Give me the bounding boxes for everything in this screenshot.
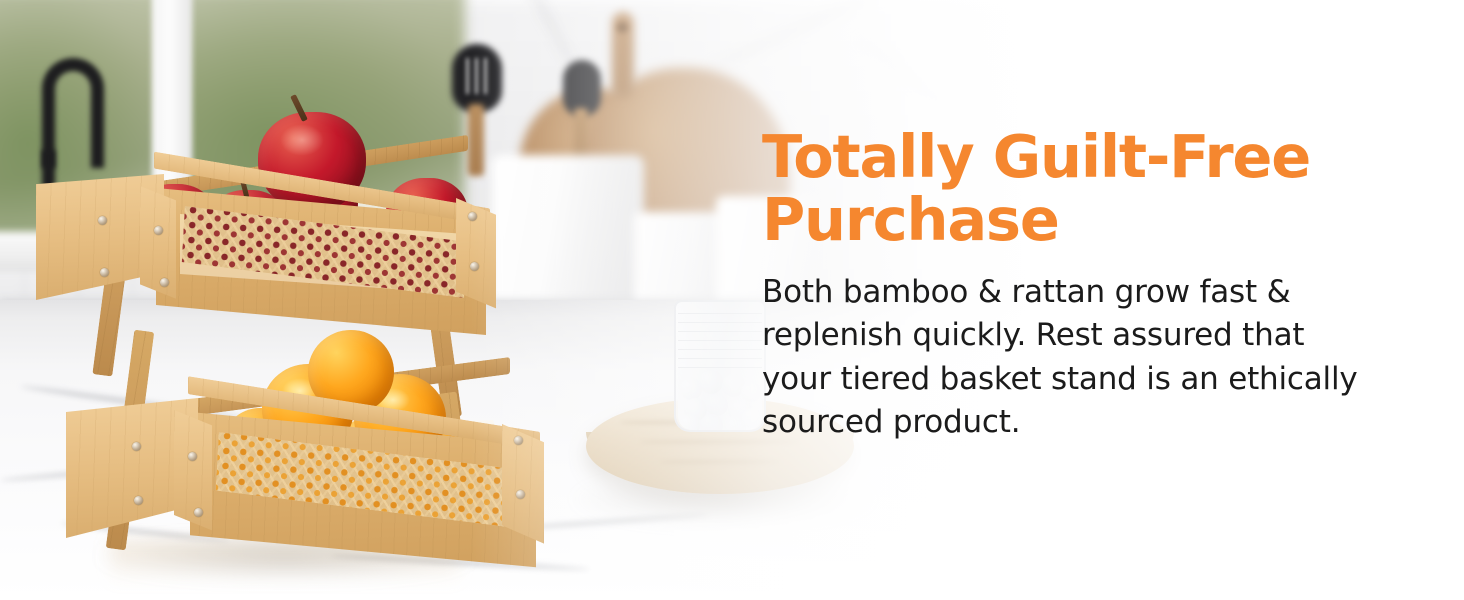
- screw: [98, 216, 107, 225]
- screw: [100, 268, 109, 277]
- copy-block: Totally Guilt-Free Purchase Both bamboo …: [762, 126, 1382, 445]
- bottom-tier-basket: [66, 372, 536, 572]
- bottom-tier-left-corner-post: [174, 410, 212, 538]
- top-tier-basket: [36, 150, 486, 335]
- apple-highlight: [280, 124, 324, 156]
- screw: [154, 226, 163, 235]
- ceramic-crock-mid: [634, 212, 726, 312]
- screw: [134, 496, 143, 505]
- screw: [516, 490, 525, 499]
- screw: [468, 212, 477, 221]
- product-banner: Totally Guilt-Free Purchase Both bamboo …: [0, 0, 1464, 600]
- tiered-basket-stand: [0, 0, 620, 600]
- jar-ribbed-texture: [678, 306, 762, 368]
- screw: [160, 278, 169, 287]
- screw: [132, 442, 141, 451]
- top-tier-left-corner-post: [140, 186, 176, 306]
- riser-grain: [660, 460, 780, 464]
- screw: [188, 452, 197, 461]
- screw: [194, 508, 203, 517]
- screw: [470, 262, 479, 271]
- screw: [514, 436, 523, 445]
- headline: Totally Guilt-Free Purchase: [762, 126, 1382, 251]
- body-paragraph: Both bamboo & rattan grow fast & repleni…: [762, 271, 1382, 445]
